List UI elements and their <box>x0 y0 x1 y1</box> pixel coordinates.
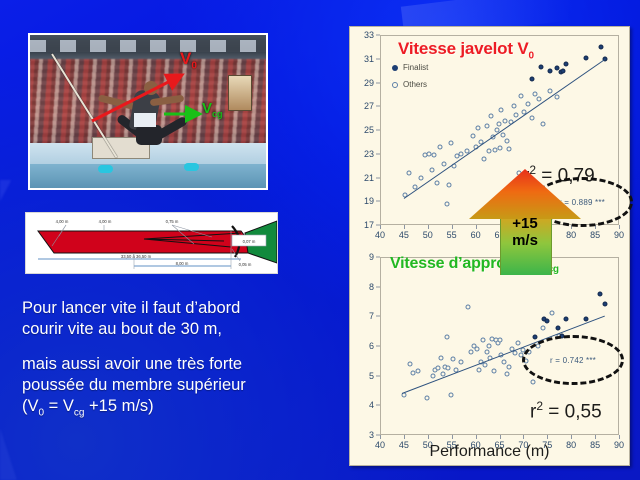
data-point-other <box>476 125 481 130</box>
y-tick-label: 9 <box>369 252 374 262</box>
x-tick-mark <box>428 225 429 229</box>
x-tick-mark <box>547 435 548 439</box>
x-tick-mark <box>523 435 524 439</box>
y-tick-label: 3 <box>369 430 374 440</box>
javelin-thrower-photo: V0 Vcg <box>28 33 268 190</box>
data-point-other <box>450 357 455 362</box>
photo-label-v0: V0 <box>180 49 197 71</box>
data-point-other <box>540 326 545 331</box>
chart-title-top-text: Vitesse javelot V <box>398 39 528 58</box>
photo-label-vcg: Vcg <box>202 100 223 119</box>
data-point-final <box>561 68 566 73</box>
data-point-final <box>602 302 607 307</box>
data-point-other <box>505 138 510 143</box>
formula-close: +15 m/s) <box>84 397 153 415</box>
y-tick-mark <box>376 286 380 287</box>
data-point-other <box>429 168 434 173</box>
y-tick-mark <box>376 346 380 347</box>
data-point-other <box>477 367 482 372</box>
data-point-final <box>598 44 603 49</box>
data-point-other <box>459 360 464 365</box>
data-point-other <box>497 145 502 150</box>
data-point-other <box>482 156 487 161</box>
paragraph-2-line-1: mais aussi avoir une très forte <box>22 355 242 373</box>
x-tick-label: 40 <box>375 230 385 240</box>
javelin-runway-diagram: 4,00 m 4,00 m 0,75 m 0,07 m 0,05 m 33,50… <box>25 212 278 274</box>
data-point-other <box>486 344 491 349</box>
y-tick-mark <box>376 257 380 258</box>
data-point-other <box>485 349 490 354</box>
paragraph-2: mais aussi avoir une très forte poussée … <box>22 354 342 423</box>
data-point-other <box>547 88 552 93</box>
paragraph-2-line-3: (V0 = Vcg +15 m/s) <box>22 397 154 415</box>
dim-label-2: 4,00 m <box>99 219 112 224</box>
velocity-vectors <box>30 35 268 190</box>
data-point-other <box>511 104 516 109</box>
y-tick-label: 6 <box>369 341 374 351</box>
x-tick-mark <box>500 435 501 439</box>
data-point-other <box>449 141 454 146</box>
data-point-other <box>439 355 444 360</box>
data-point-other <box>483 363 488 368</box>
dim-label-4: 0,07 m <box>243 239 256 244</box>
data-point-other <box>502 360 507 365</box>
runway-schematic: 4,00 m 4,00 m 0,75 m 0,07 m 0,05 m 33,50… <box>26 213 277 273</box>
data-point-other <box>498 107 503 112</box>
legend-dot-others-icon <box>392 82 398 88</box>
data-point-other <box>430 373 435 378</box>
data-point-other <box>438 144 443 149</box>
paragraph-1: Pour lancer vite il faut d’abord courir … <box>22 298 342 340</box>
data-point-final <box>583 55 588 60</box>
arrow-label: +15 m/s <box>469 215 581 249</box>
data-point-other <box>496 122 501 127</box>
data-point-final <box>538 65 543 70</box>
legend-item-others: Others <box>392 80 428 89</box>
data-point-other <box>540 122 545 127</box>
arrow-label-line2: m/s <box>469 232 581 249</box>
data-point-other <box>554 94 559 99</box>
x-tick-mark <box>452 225 453 229</box>
x-tick-mark <box>476 435 477 439</box>
paragraph-1-line-1: Pour lancer vite il faut d’abord <box>22 299 240 317</box>
y-tick-mark <box>376 35 380 36</box>
x-tick-mark <box>571 435 572 439</box>
y-tick-label: 5 <box>369 371 374 381</box>
dim-label-8m: 8,00 m <box>176 261 189 266</box>
data-point-final <box>597 292 602 297</box>
data-point-other <box>441 162 446 167</box>
data-point-other <box>536 97 541 102</box>
data-point-other <box>432 152 437 157</box>
x-tick-mark <box>428 435 429 439</box>
data-point-other <box>444 201 449 206</box>
data-point-other <box>416 369 421 374</box>
y-tick-mark <box>376 177 380 178</box>
chart-vitesse-approche: 34567894045505560657075808590 Vitesse d’… <box>350 249 629 459</box>
y-tick-label: 19 <box>364 196 374 206</box>
data-point-other <box>530 116 535 121</box>
y-tick-label: 4 <box>369 400 374 410</box>
y-tick-label: 33 <box>364 30 374 40</box>
photo-label-vcg-sub: cg <box>212 109 223 119</box>
data-point-other <box>530 379 535 384</box>
y-tick-mark <box>376 405 380 406</box>
y-tick-mark <box>376 82 380 83</box>
data-point-other <box>507 147 512 152</box>
y-tick-label: 8 <box>369 282 374 292</box>
data-point-final <box>530 76 535 81</box>
x-tick-mark <box>404 225 405 229</box>
data-point-final <box>547 68 552 73</box>
r-squared-bottom-exp: 2 <box>536 399 543 413</box>
y-tick-mark <box>376 106 380 107</box>
y-tick-label: 27 <box>364 101 374 111</box>
y-tick-label: 31 <box>364 54 374 64</box>
y-tick-mark <box>376 130 380 131</box>
data-point-other <box>501 132 506 137</box>
data-point-other <box>550 311 555 316</box>
data-point-other <box>468 349 473 354</box>
dim-label-5: 0,05 m <box>239 262 252 267</box>
x-tick-mark <box>595 435 596 439</box>
x-tick-mark <box>619 225 620 229</box>
data-point-other <box>486 149 491 154</box>
data-point-other <box>436 366 441 371</box>
r-squared-bottom: r2 = 0,55 <box>530 399 602 423</box>
data-point-other <box>512 351 517 356</box>
x-tick-label: 50 <box>423 230 433 240</box>
formula-sub-cg: cg <box>74 407 85 418</box>
paragraph-2-line-2: poussée du membre supérieur <box>22 376 246 394</box>
x-tick-label: 55 <box>447 230 457 240</box>
data-point-other <box>505 372 510 377</box>
x-tick-label: 85 <box>590 230 600 240</box>
data-point-final <box>533 335 538 340</box>
data-point-other <box>488 113 493 118</box>
data-point-final <box>556 326 561 331</box>
y-tick-mark <box>376 153 380 154</box>
photo-label-v0-sub: 0 <box>191 60 197 71</box>
chart-title-top-sub: 0 <box>528 50 533 61</box>
data-point-other <box>491 369 496 374</box>
x-tick-mark <box>452 435 453 439</box>
data-point-other <box>471 133 476 138</box>
data-point-other <box>515 341 520 346</box>
dim-label-3: 0,75 m <box>166 219 179 224</box>
x-tick-label: 90 <box>614 230 624 240</box>
dim-label-1: 4,00 m <box>56 219 69 224</box>
data-point-final <box>545 318 550 323</box>
chart-title-top: Vitesse javelot V0 <box>398 39 534 61</box>
correlation-ellipse-bottom: r = 0.742 *** <box>522 335 624 385</box>
data-point-other <box>435 181 440 186</box>
formula-equals: = V <box>44 397 74 415</box>
x-tick-mark <box>619 435 620 439</box>
data-point-other <box>484 124 489 129</box>
x-tick-mark <box>380 225 381 229</box>
paragraph-1-line-2: courir vite au bout de 30 m, <box>22 320 222 338</box>
arrow-label-line1: +15 <box>469 215 581 232</box>
data-point-other <box>424 395 429 400</box>
data-point-other <box>448 392 453 397</box>
y-tick-label: 7 <box>369 311 374 321</box>
y-tick-label: 21 <box>364 173 374 183</box>
data-point-other <box>465 305 470 310</box>
y-tick-label: 29 <box>364 78 374 88</box>
y-tick-mark <box>376 201 380 202</box>
legend-item-finalist: Finalist <box>392 63 428 72</box>
slide-text-block: Pour lancer vite il faut d’abord courir … <box>22 298 342 437</box>
y-tick-mark <box>376 375 380 376</box>
legend-dot-finalist-icon <box>392 65 398 71</box>
legend-label-finalist: Finalist <box>403 63 428 72</box>
data-point-other <box>419 175 424 180</box>
data-point-other <box>503 118 508 123</box>
y-tick-mark <box>376 58 380 59</box>
data-point-other <box>446 366 451 371</box>
data-point-other <box>426 151 431 156</box>
legend-top: Finalist Others <box>392 63 428 97</box>
dim-label-runway: 33,50 à 36,50 m <box>121 254 152 259</box>
correlation-value-bottom: r = 0.742 *** <box>550 356 596 365</box>
x-tick-mark <box>380 435 381 439</box>
y-tick-label: 25 <box>364 125 374 135</box>
data-point-other <box>406 170 411 175</box>
data-point-other <box>446 182 451 187</box>
data-point-other <box>526 101 531 106</box>
x-tick-mark <box>404 435 405 439</box>
data-point-other <box>513 112 518 117</box>
data-point-other <box>497 338 502 343</box>
arrow-head <box>469 169 581 219</box>
data-point-other <box>408 361 413 366</box>
data-point-other <box>507 364 512 369</box>
formula-open: (V <box>22 397 39 415</box>
data-point-final <box>564 317 569 322</box>
plus-15-ms-arrow: +15 m/s <box>469 169 581 275</box>
data-point-other <box>519 93 524 98</box>
legend-label-others: Others <box>403 80 427 89</box>
y-tick-label: 17 <box>364 220 374 230</box>
y-tick-mark <box>376 316 380 317</box>
x-tick-label: 45 <box>399 230 409 240</box>
data-point-final <box>564 61 569 66</box>
data-point-other <box>474 346 479 351</box>
x-axis-label: Performance (m) <box>350 443 629 461</box>
data-point-other <box>481 338 486 343</box>
y-tick-label: 23 <box>364 149 374 159</box>
data-point-other <box>444 335 449 340</box>
